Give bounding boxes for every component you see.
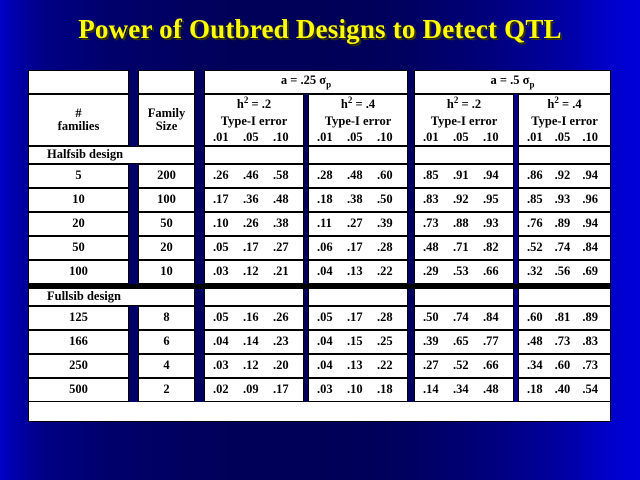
value-fullsib-2-g3-c0: .34 bbox=[523, 359, 551, 372]
value-fullsib-2-g0-c0: .03 bbox=[209, 359, 239, 372]
value-families-halfsib-1: 10 bbox=[29, 193, 128, 206]
cell-group3-fullsib-2: .34.60.73 bbox=[518, 354, 611, 378]
value-halfsib-1-g0-c2: .48 bbox=[269, 193, 299, 206]
value-halfsib-1-g0-c1: .36 bbox=[239, 193, 269, 206]
value-fullsib-2-g1-c1: .13 bbox=[343, 359, 373, 372]
cell-family-size-fullsib-3: 2 bbox=[138, 378, 195, 402]
values-group2-halfsib-0: .85.91.94 bbox=[415, 169, 513, 182]
section-blank-halfsib-2 bbox=[414, 146, 514, 164]
value-fullsib-3-g3-c1: .40 bbox=[551, 383, 579, 396]
cell-group1-halfsib-3: .06.17.28 bbox=[308, 236, 408, 260]
value-halfsib-3-g1-c1: .17 bbox=[343, 241, 373, 254]
cell-group2-fullsib-1: .39.65.77 bbox=[414, 330, 514, 354]
value-fullsib-0-g3-c0: .60 bbox=[523, 311, 551, 324]
value-fullsib-3-g0-c0: .02 bbox=[209, 383, 239, 396]
cell-group1-fullsib-1: .04.15.25 bbox=[308, 330, 408, 354]
values-group1-halfsib-1: .18.38.50 bbox=[309, 193, 407, 206]
value-halfsib-2-g0-c1: .26 bbox=[239, 217, 269, 230]
value-fullsib-0-g1-c1: .17 bbox=[343, 311, 373, 324]
value-halfsib-2-g2-c0: .73 bbox=[419, 217, 449, 230]
value-fullsib-3-g1-c2: .18 bbox=[373, 383, 403, 396]
value-halfsib-2-g1-c1: .27 bbox=[343, 217, 373, 230]
type-i-error-label-0: Type-I error bbox=[205, 115, 303, 128]
value-halfsib-0-g3-c1: .92 bbox=[551, 169, 579, 182]
cell-group0-fullsib-3: .02.09.17 bbox=[204, 378, 304, 402]
value-halfsib-0-g2-c1: .91 bbox=[449, 169, 479, 182]
value-fullsib-1-g1-c0: .04 bbox=[313, 335, 343, 348]
value-fullsib-2-g3-c2: .73 bbox=[578, 359, 606, 372]
cell-family-size-halfsib-4: 10 bbox=[138, 260, 195, 284]
alpha-row-1: .01.05.10 bbox=[309, 131, 407, 145]
value-fullsib-0-g1-c2: .28 bbox=[373, 311, 403, 324]
value-fullsib-2-g1-c0: .04 bbox=[313, 359, 343, 372]
subgroup-header-1: h2 = .4Type-I error.01.05.10 bbox=[308, 94, 408, 146]
value-halfsib-3-g1-c0: .06 bbox=[313, 241, 343, 254]
cell-group0-fullsib-2: .03.12.20 bbox=[204, 354, 304, 378]
value-halfsib-1-g2-c1: .92 bbox=[449, 193, 479, 206]
subgroup-header-3: h2 = .4Type-I error.01.05.10 bbox=[518, 94, 611, 146]
cell-group3-halfsib-2: .76.89.94 bbox=[518, 212, 611, 236]
values-group1-fullsib-2: .04.13.22 bbox=[309, 359, 407, 372]
values-group1-fullsib-3: .03.10.18 bbox=[309, 383, 407, 396]
values-group0-fullsib-3: .02.09.17 bbox=[205, 383, 303, 396]
value-fullsib-0-g2-c0: .50 bbox=[419, 311, 449, 324]
values-group1-halfsib-0: .28.48.60 bbox=[309, 169, 407, 182]
value-families-halfsib-0: 5 bbox=[29, 169, 128, 182]
value-halfsib-1-g3-c0: .85 bbox=[523, 193, 551, 206]
value-halfsib-3-g3-c1: .74 bbox=[551, 241, 579, 254]
value-fullsib-3-g0-c1: .09 bbox=[239, 383, 269, 396]
h2-label-2: h2 = .2 bbox=[415, 96, 513, 111]
value-fullsib-1-g1-c1: .15 bbox=[343, 335, 373, 348]
cell-group2-halfsib-3: .48.71.82 bbox=[414, 236, 514, 260]
cell-group2-halfsib-0: .85.91.94 bbox=[414, 164, 514, 188]
value-halfsib-0-g1-c1: .48 bbox=[343, 169, 373, 182]
cell-families-fullsib-2: 250 bbox=[28, 354, 129, 378]
values-group0-fullsib-1: .04.14.23 bbox=[205, 335, 303, 348]
value-halfsib-2-g0-c2: .38 bbox=[269, 217, 299, 230]
cell-group3-halfsib-4: .32.56.69 bbox=[518, 260, 611, 284]
values-group3-halfsib-4: .32.56.69 bbox=[519, 265, 610, 278]
value-fullsib-3-g2-c1: .34 bbox=[449, 383, 479, 396]
value-family-size-fullsib-2: 4 bbox=[139, 359, 194, 372]
value-halfsib-4-g2-c1: .53 bbox=[449, 265, 479, 278]
value-fullsib-0-g3-c1: .81 bbox=[551, 311, 579, 324]
section-blank-fullsib-3 bbox=[518, 288, 611, 306]
values-group2-halfsib-2: .73.88.93 bbox=[415, 217, 513, 230]
cell-group2-fullsib-2: .27.52.66 bbox=[414, 354, 514, 378]
values-group3-fullsib-3: .18.40.54 bbox=[519, 383, 610, 396]
section-label-text-fullsib: Fullsib design bbox=[29, 290, 121, 303]
cell-family-size-halfsib-0: 200 bbox=[138, 164, 195, 188]
slide-canvas: Power of Outbred Designs to Detect QTL a… bbox=[0, 0, 640, 480]
value-halfsib-0-g3-c2: .94 bbox=[578, 169, 606, 182]
value-halfsib-3-g0-c2: .27 bbox=[269, 241, 299, 254]
table-footer-band bbox=[28, 402, 611, 422]
cell-group1-halfsib-4: .04.13.22 bbox=[308, 260, 408, 284]
cell-group3-fullsib-3: .18.40.54 bbox=[518, 378, 611, 402]
cell-family-size-halfsib-2: 50 bbox=[138, 212, 195, 236]
section-blank-halfsib-0 bbox=[204, 146, 304, 164]
stub-header-families: #families bbox=[28, 94, 129, 146]
values-group1-halfsib-3: .06.17.28 bbox=[309, 241, 407, 254]
value-halfsib-2-g3-c0: .76 bbox=[523, 217, 551, 230]
value-fullsib-1-g0-c1: .14 bbox=[239, 335, 269, 348]
cell-group3-halfsib-0: .86.92.94 bbox=[518, 164, 611, 188]
value-family-size-fullsib-0: 8 bbox=[139, 311, 194, 324]
alpha-col-1-2: .10 bbox=[373, 131, 403, 144]
value-halfsib-1-g0-c0: .17 bbox=[209, 193, 239, 206]
value-fullsib-2-g3-c1: .60 bbox=[551, 359, 579, 372]
values-group0-fullsib-2: .03.12.20 bbox=[205, 359, 303, 372]
values-group3-halfsib-1: .85.93.96 bbox=[519, 193, 610, 206]
value-fullsib-1-g0-c2: .23 bbox=[269, 335, 299, 348]
cell-group3-halfsib-3: .52.74.84 bbox=[518, 236, 611, 260]
cell-family-size-fullsib-0: 8 bbox=[138, 306, 195, 330]
stub-families-line2: families bbox=[29, 120, 128, 133]
value-halfsib-0-g1-c2: .60 bbox=[373, 169, 403, 182]
section-blank-halfsib-1 bbox=[308, 146, 408, 164]
power-table: a = .25 σpa = .5 σp#familiesFamilySizeh2… bbox=[28, 70, 611, 441]
value-halfsib-1-g1-c1: .38 bbox=[343, 193, 373, 206]
value-fullsib-2-g0-c1: .12 bbox=[239, 359, 269, 372]
value-fullsib-3-g3-c0: .18 bbox=[523, 383, 551, 396]
value-halfsib-3-g0-c1: .17 bbox=[239, 241, 269, 254]
value-halfsib-0-g2-c2: .94 bbox=[479, 169, 509, 182]
alpha-col-1-0: .01 bbox=[313, 131, 343, 144]
cell-group0-halfsib-4: .03.12.21 bbox=[204, 260, 304, 284]
cell-families-halfsib-0: 5 bbox=[28, 164, 129, 188]
value-halfsib-0-g0-c1: .46 bbox=[239, 169, 269, 182]
value-family-size-fullsib-3: 2 bbox=[139, 383, 194, 396]
value-halfsib-2-g3-c1: .89 bbox=[551, 217, 579, 230]
value-fullsib-1-g2-c1: .65 bbox=[449, 335, 479, 348]
value-families-fullsib-0: 125 bbox=[29, 311, 128, 324]
cell-group1-fullsib-2: .04.13.22 bbox=[308, 354, 408, 378]
value-halfsib-4-g3-c1: .56 bbox=[551, 265, 579, 278]
value-halfsib-2-g0-c0: .10 bbox=[209, 217, 239, 230]
cell-group0-halfsib-3: .05.17.27 bbox=[204, 236, 304, 260]
value-halfsib-4-g3-c2: .69 bbox=[578, 265, 606, 278]
cell-group2-halfsib-4: .29.53.66 bbox=[414, 260, 514, 284]
stub-family-size-line2: Size bbox=[139, 120, 194, 133]
values-group0-fullsib-0: .05.16.26 bbox=[205, 311, 303, 324]
cell-group2-halfsib-1: .83.92.95 bbox=[414, 188, 514, 212]
cell-group0-halfsib-0: .26.46.58 bbox=[204, 164, 304, 188]
cell-group1-fullsib-3: .03.10.18 bbox=[308, 378, 408, 402]
value-halfsib-4-g1-c0: .04 bbox=[313, 265, 343, 278]
alpha-col-3-1: .05 bbox=[551, 131, 579, 144]
cell-families-fullsib-3: 500 bbox=[28, 378, 129, 402]
value-halfsib-4-g0-c2: .21 bbox=[269, 265, 299, 278]
cell-group0-halfsib-1: .17.36.48 bbox=[204, 188, 304, 212]
value-halfsib-4-g3-c0: .32 bbox=[523, 265, 551, 278]
cell-group0-fullsib-1: .04.14.23 bbox=[204, 330, 304, 354]
value-fullsib-0-g2-c2: .84 bbox=[479, 311, 509, 324]
values-group0-halfsib-0: .26.46.58 bbox=[205, 169, 303, 182]
cell-families-halfsib-4: 100 bbox=[28, 260, 129, 284]
cell-group1-fullsib-0: .05.17.28 bbox=[308, 306, 408, 330]
values-group0-halfsib-2: .10.26.38 bbox=[205, 217, 303, 230]
values-group2-halfsib-1: .83.92.95 bbox=[415, 193, 513, 206]
value-family-size-halfsib-3: 20 bbox=[139, 241, 194, 254]
values-group0-halfsib-4: .03.12.21 bbox=[205, 265, 303, 278]
value-fullsib-0-g1-c0: .05 bbox=[313, 311, 343, 324]
page-title: Power of Outbred Designs to Detect QTL bbox=[0, 14, 640, 45]
value-halfsib-2-g1-c0: .11 bbox=[313, 217, 343, 230]
cell-families-halfsib-2: 20 bbox=[28, 212, 129, 236]
cell-group1-halfsib-1: .18.38.50 bbox=[308, 188, 408, 212]
subgroup-header-2: h2 = .2Type-I error.01.05.10 bbox=[414, 94, 514, 146]
section-blank-fullsib-1 bbox=[308, 288, 408, 306]
cell-group3-fullsib-0: .60.81.89 bbox=[518, 306, 611, 330]
value-halfsib-1-g2-c2: .95 bbox=[479, 193, 509, 206]
values-group3-halfsib-0: .86.92.94 bbox=[519, 169, 610, 182]
value-fullsib-2-g2-c2: .66 bbox=[479, 359, 509, 372]
value-fullsib-3-g2-c0: .14 bbox=[419, 383, 449, 396]
values-group2-fullsib-1: .39.65.77 bbox=[415, 335, 513, 348]
alpha-col-0-2: .10 bbox=[269, 131, 299, 144]
value-fullsib-0-g2-c1: .74 bbox=[449, 311, 479, 324]
alpha-col-1-1: .05 bbox=[343, 131, 373, 144]
value-fullsib-0-g0-c1: .16 bbox=[239, 311, 269, 324]
value-halfsib-0-g1-c0: .28 bbox=[313, 169, 343, 182]
value-fullsib-1-g0-c0: .04 bbox=[209, 335, 239, 348]
value-fullsib-1-g2-c2: .77 bbox=[479, 335, 509, 348]
value-families-fullsib-2: 250 bbox=[29, 359, 128, 372]
cell-group2-halfsib-2: .73.88.93 bbox=[414, 212, 514, 236]
cell-families-halfsib-3: 50 bbox=[28, 236, 129, 260]
values-group3-fullsib-1: .48.73.83 bbox=[519, 335, 610, 348]
value-halfsib-3-g3-c2: .84 bbox=[578, 241, 606, 254]
cell-group1-halfsib-2: .11.27.39 bbox=[308, 212, 408, 236]
value-fullsib-1-g3-c1: .73 bbox=[551, 335, 579, 348]
value-fullsib-2-g2-c1: .52 bbox=[449, 359, 479, 372]
value-halfsib-4-g0-c1: .12 bbox=[239, 265, 269, 278]
value-fullsib-3-g1-c0: .03 bbox=[313, 383, 343, 396]
supergroup-label-1: a = .5 σp bbox=[415, 74, 610, 90]
header-blank-families bbox=[28, 70, 129, 94]
values-group2-fullsib-2: .27.52.66 bbox=[415, 359, 513, 372]
value-family-size-halfsib-2: 50 bbox=[139, 217, 194, 230]
value-families-halfsib-3: 50 bbox=[29, 241, 128, 254]
value-families-halfsib-2: 20 bbox=[29, 217, 128, 230]
cell-group2-fullsib-3: .14.34.48 bbox=[414, 378, 514, 402]
value-fullsib-3-g2-c2: .48 bbox=[479, 383, 509, 396]
cell-group2-fullsib-0: .50.74.84 bbox=[414, 306, 514, 330]
alpha-col-3-0: .01 bbox=[523, 131, 551, 144]
value-fullsib-1-g3-c2: .83 bbox=[578, 335, 606, 348]
values-group1-halfsib-4: .04.13.22 bbox=[309, 265, 407, 278]
value-family-size-halfsib-1: 100 bbox=[139, 193, 194, 206]
value-fullsib-1-g1-c2: .25 bbox=[373, 335, 403, 348]
value-families-fullsib-1: 166 bbox=[29, 335, 128, 348]
cell-families-halfsib-1: 10 bbox=[28, 188, 129, 212]
values-group1-fullsib-1: .04.15.25 bbox=[309, 335, 407, 348]
value-halfsib-3-g3-c0: .52 bbox=[523, 241, 551, 254]
value-fullsib-0-g3-c2: .89 bbox=[578, 311, 606, 324]
type-i-error-label-2: Type-I error bbox=[415, 115, 513, 128]
value-halfsib-1-g3-c2: .96 bbox=[578, 193, 606, 206]
section-blank-fullsib-2 bbox=[414, 288, 514, 306]
section-label-text-halfsib: Halfsib design bbox=[29, 148, 123, 161]
value-families-fullsib-3: 500 bbox=[29, 383, 128, 396]
cell-family-size-halfsib-3: 20 bbox=[138, 236, 195, 260]
alpha-col-2-1: .05 bbox=[449, 131, 479, 144]
value-halfsib-4-g2-c2: .66 bbox=[479, 265, 509, 278]
value-halfsib-3-g0-c0: .05 bbox=[209, 241, 239, 254]
values-group1-halfsib-2: .11.27.39 bbox=[309, 217, 407, 230]
h2-label-0: h2 = .2 bbox=[205, 96, 303, 111]
h2-label-3: h2 = .4 bbox=[519, 96, 610, 111]
cell-families-fullsib-0: 125 bbox=[28, 306, 129, 330]
value-halfsib-0-g3-c0: .86 bbox=[523, 169, 551, 182]
value-fullsib-3-g1-c1: .10 bbox=[343, 383, 373, 396]
supergroup-label-0: a = .25 σp bbox=[205, 74, 407, 90]
value-halfsib-3-g2-c0: .48 bbox=[419, 241, 449, 254]
value-halfsib-1-g1-c2: .50 bbox=[373, 193, 403, 206]
h2-label-1: h2 = .4 bbox=[309, 96, 407, 111]
value-halfsib-1-g3-c1: .93 bbox=[551, 193, 579, 206]
supergroup-header-0: a = .25 σp bbox=[204, 70, 408, 94]
value-halfsib-4-g1-c1: .13 bbox=[343, 265, 373, 278]
supergroup-header-1: a = .5 σp bbox=[414, 70, 611, 94]
values-group3-halfsib-2: .76.89.94 bbox=[519, 217, 610, 230]
value-halfsib-4-g1-c2: .22 bbox=[373, 265, 403, 278]
value-families-halfsib-4: 100 bbox=[29, 265, 128, 278]
cell-family-size-fullsib-2: 4 bbox=[138, 354, 195, 378]
value-fullsib-0-g0-c2: .26 bbox=[269, 311, 299, 324]
alpha-col-2-0: .01 bbox=[419, 131, 449, 144]
value-family-size-fullsib-1: 6 bbox=[139, 335, 194, 348]
cell-group1-halfsib-0: .28.48.60 bbox=[308, 164, 408, 188]
value-halfsib-1-g1-c0: .18 bbox=[313, 193, 343, 206]
alpha-row-2: .01.05.10 bbox=[415, 131, 513, 145]
cell-families-fullsib-1: 166 bbox=[28, 330, 129, 354]
value-halfsib-2-g1-c2: .39 bbox=[373, 217, 403, 230]
value-halfsib-2-g2-c2: .93 bbox=[479, 217, 509, 230]
alpha-col-0-1: .05 bbox=[239, 131, 269, 144]
cell-family-size-fullsib-1: 6 bbox=[138, 330, 195, 354]
value-halfsib-4-g0-c0: .03 bbox=[209, 265, 239, 278]
value-halfsib-0-g0-c2: .58 bbox=[269, 169, 299, 182]
value-halfsib-2-g2-c1: .88 bbox=[449, 217, 479, 230]
values-group0-halfsib-1: .17.36.48 bbox=[205, 193, 303, 206]
alpha-col-0-0: .01 bbox=[209, 131, 239, 144]
value-halfsib-3-g2-c1: .71 bbox=[449, 241, 479, 254]
value-fullsib-1-g2-c0: .39 bbox=[419, 335, 449, 348]
cell-group3-fullsib-1: .48.73.83 bbox=[518, 330, 611, 354]
type-i-error-label-3: Type-I error bbox=[519, 115, 610, 128]
value-halfsib-0-g2-c0: .85 bbox=[419, 169, 449, 182]
value-halfsib-3-g1-c2: .28 bbox=[373, 241, 403, 254]
values-group3-fullsib-2: .34.60.73 bbox=[519, 359, 610, 372]
cell-family-size-halfsib-1: 100 bbox=[138, 188, 195, 212]
value-halfsib-0-g0-c0: .26 bbox=[209, 169, 239, 182]
values-group3-halfsib-3: .52.74.84 bbox=[519, 241, 610, 254]
values-group0-halfsib-3: .05.17.27 bbox=[205, 241, 303, 254]
values-group1-fullsib-0: .05.17.28 bbox=[309, 311, 407, 324]
values-group2-halfsib-4: .29.53.66 bbox=[415, 265, 513, 278]
value-halfsib-4-g2-c0: .29 bbox=[419, 265, 449, 278]
alpha-col-2-2: .10 bbox=[479, 131, 509, 144]
stub-header-family-size: FamilySize bbox=[138, 94, 195, 146]
value-fullsib-0-g0-c0: .05 bbox=[209, 311, 239, 324]
values-group3-fullsib-0: .60.81.89 bbox=[519, 311, 610, 324]
value-halfsib-1-g2-c0: .83 bbox=[419, 193, 449, 206]
value-fullsib-3-g3-c2: .54 bbox=[578, 383, 606, 396]
value-halfsib-2-g3-c2: .94 bbox=[578, 217, 606, 230]
value-family-size-halfsib-0: 200 bbox=[139, 169, 194, 182]
subgroup-header-0: h2 = .2Type-I error.01.05.10 bbox=[204, 94, 304, 146]
value-family-size-halfsib-4: 10 bbox=[139, 265, 194, 278]
header-blank-family-size bbox=[138, 70, 195, 94]
value-fullsib-2-g2-c0: .27 bbox=[419, 359, 449, 372]
cell-group0-fullsib-0: .05.16.26 bbox=[204, 306, 304, 330]
alpha-row-3: .01.05.10 bbox=[519, 131, 610, 145]
section-label-fullsib: Fullsib design bbox=[28, 288, 195, 306]
values-group2-fullsib-3: .14.34.48 bbox=[415, 383, 513, 396]
alpha-row-0: .01.05.10 bbox=[205, 131, 303, 145]
value-fullsib-2-g1-c2: .22 bbox=[373, 359, 403, 372]
section-blank-fullsib-0 bbox=[204, 288, 304, 306]
alpha-col-3-2: .10 bbox=[578, 131, 606, 144]
value-fullsib-2-g0-c2: .20 bbox=[269, 359, 299, 372]
values-group2-fullsib-0: .50.74.84 bbox=[415, 311, 513, 324]
value-fullsib-3-g0-c2: .17 bbox=[269, 383, 299, 396]
value-fullsib-1-g3-c0: .48 bbox=[523, 335, 551, 348]
type-i-error-label-1: Type-I error bbox=[309, 115, 407, 128]
section-label-halfsib: Halfsib design bbox=[28, 146, 195, 164]
cell-group3-halfsib-1: .85.93.96 bbox=[518, 188, 611, 212]
value-halfsib-3-g2-c2: .82 bbox=[479, 241, 509, 254]
cell-group0-halfsib-2: .10.26.38 bbox=[204, 212, 304, 236]
values-group2-halfsib-3: .48.71.82 bbox=[415, 241, 513, 254]
section-blank-halfsib-3 bbox=[518, 146, 611, 164]
